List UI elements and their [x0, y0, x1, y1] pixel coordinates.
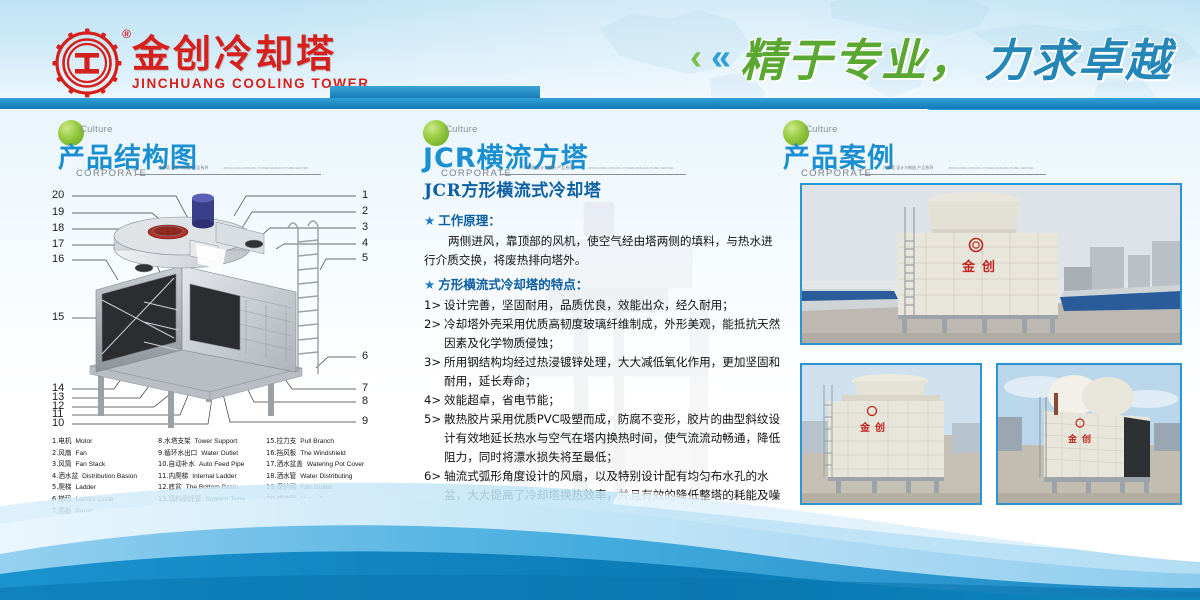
callout-16: 16 — [52, 253, 64, 265]
jcr-heading-principle-label: 工作原理： — [438, 213, 501, 228]
gear-emblem-icon: ® — [52, 28, 122, 98]
jcr-main-title: JCR方形横流式冷却塔 — [424, 176, 784, 201]
callout-19: 19 — [52, 206, 64, 218]
svg-text:创: 创 — [981, 259, 995, 275]
section-microtext: 冷却塔 设计与制造 产品系列 — [523, 165, 573, 171]
slogan-text-secondary: 力求卓越 — [984, 24, 1172, 89]
bottom-wave-decoration — [0, 470, 1200, 600]
product-structure-diagram: 20 19 18 17 16 15 14 13 12 11 10 1 2 3 4… — [40, 182, 390, 430]
poster-page: ® 金创冷却塔 JINCHUANG COOLING TOWER ‹ « 精于专业… — [0, 0, 1200, 600]
callout-18: 18 — [52, 222, 64, 234]
svg-text:创: 创 — [874, 421, 885, 434]
section-header-jcr: Culture JCR横流方塔 CORPORATE 冷却塔 设计与制造 产品系列… — [423, 120, 723, 180]
brand-name-cn: 金创冷却塔 — [132, 35, 370, 75]
legend-item: 8.水塔支架Tower Support — [158, 436, 266, 448]
section-culture-label: Culture — [805, 124, 838, 135]
section-rule — [501, 174, 686, 175]
svg-text:金: 金 — [961, 259, 976, 275]
registered-mark: ® — [122, 27, 131, 41]
jcr-feature-item: 3>所用钢结构均经过热浸镀锌处理，大大减低氧化作用，更加坚固和耐用，延长寿命； — [424, 353, 784, 391]
callout-4: 4 — [362, 237, 368, 249]
section-rule — [861, 174, 1046, 175]
page-header: ® 金创冷却塔 JINCHUANG COOLING TOWER ‹ « 精于专业… — [0, 0, 1200, 118]
legend-item: 1.电机Motor — [52, 436, 158, 448]
jcr-heading-features: ★方形横流式冷却塔的特点： — [424, 274, 784, 293]
legend-item: 15.拉力支Pull Branch — [266, 436, 386, 448]
slogan-block: ‹ « 精于专业， 力求卓越 — [690, 24, 1172, 89]
jcr-feature-item: 4>效能超卓，省电节能； — [424, 391, 784, 410]
jcr-heading-principle: ★工作原理： — [424, 210, 784, 229]
callout-2: 2 — [362, 205, 368, 217]
section-microtext-en: JINCHUANG COOLING TOWER MANUFACTURE CENT… — [948, 166, 1033, 170]
section-microtext: 冷却塔 设计与制造 产品系列 — [883, 165, 933, 171]
svg-text:创: 创 — [1081, 433, 1091, 445]
callout-7: 7 — [362, 382, 368, 394]
jcr-principle-paragraph: 两侧进风，靠顶部的风机，使空气经由塔两侧的填料，与热水进行介质交换，将废热排向塔… — [424, 232, 784, 269]
header-divider-bar — [0, 98, 1200, 109]
star-bullet-icon: ★ — [424, 213, 435, 228]
section-culture-label: Culture — [445, 124, 478, 135]
callout-15: 15 — [52, 311, 64, 323]
callout-10: 10 — [52, 417, 64, 429]
jcr-heading-features-label: 方形横流式冷却塔的特点： — [438, 277, 588, 292]
cooling-tower-rooftop-photo[interactable]: 金 创 — [800, 183, 1182, 345]
chevron-double-left-icon: « — [711, 39, 731, 75]
legend-item: 16.挡风板The Windshield — [266, 448, 386, 460]
callout-6: 6 — [362, 350, 368, 362]
callout-8: 8 — [362, 395, 368, 407]
svg-text:金: 金 — [1067, 433, 1078, 445]
section-header-structure: Culture 产品结构图 CORPORATE 冷却塔 设计与制造 产品系列 J… — [58, 120, 358, 180]
section-rule — [136, 174, 321, 175]
jcr-feature-item: 2>冷却塔外壳采用优质高韧度玻璃纤维制成，外形美观，能抵抗天然因素及化学物质侵蚀… — [424, 315, 784, 353]
legend-item: 9.循环水出口Water Outlet — [158, 448, 266, 460]
svg-text:金: 金 — [859, 421, 871, 434]
section-microtext-en: JINCHUANG COOLING TOWER MANUFACTURE CENT… — [588, 166, 673, 170]
callout-1: 1 — [362, 189, 368, 201]
callout-3: 3 — [362, 221, 368, 233]
chevron-left-icon: ‹ — [690, 39, 702, 75]
brand-logo[interactable]: ® 金创冷却塔 JINCHUANG COOLING TOWER — [52, 28, 370, 98]
legend-item: 2.风扇Fan — [52, 448, 158, 460]
callout-20: 20 — [52, 189, 64, 201]
callout-17: 17 — [52, 238, 64, 250]
section-microtext: 冷却塔 设计与制造 产品系列 — [158, 165, 208, 171]
callout-9: 9 — [362, 415, 368, 427]
section-header-cases: Culture 产品案例 CORPORATE 冷却塔 设计与制造 产品系列 JI… — [783, 120, 1083, 180]
callout-5: 5 — [362, 252, 368, 264]
cooling-tower-exploded-drawing — [40, 182, 390, 430]
slogan-text-primary: 精于专业， — [740, 24, 975, 89]
brand-text: 金创冷却塔 JINCHUANG COOLING TOWER — [132, 35, 370, 92]
jcr-feature-item: 5>散热胶片采用优质PVC吸塑而成，防腐不变形，胶片的曲型斜纹设计有效地延长热水… — [424, 410, 784, 467]
star-bullet-icon: ★ — [424, 277, 435, 292]
jcr-feature-item: 1>设计完善，坚固耐用，品质优良，效能出众，经久耐用； — [424, 296, 784, 315]
section-culture-label: Culture — [80, 124, 113, 135]
section-microtext-en: JINCHUANG COOLING TOWER MANUFACTURE CENT… — [223, 166, 308, 170]
